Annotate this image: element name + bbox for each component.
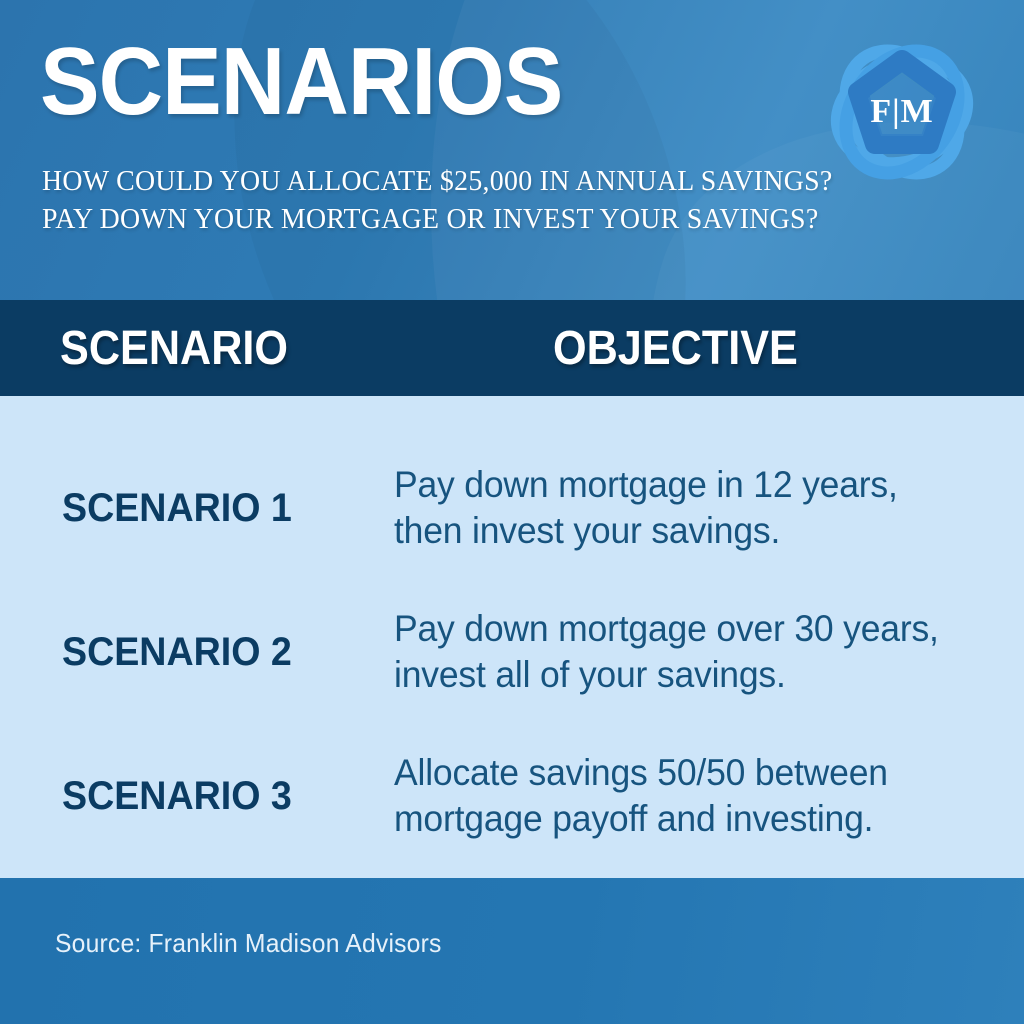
scenario-label: SCENARIO 3 [62, 726, 344, 866]
logo-monogram: F|M [812, 22, 992, 202]
table-header-row: SCENARIO OBJECTIVE [0, 300, 1024, 396]
franklin-madison-ribbon-logo: F|M [812, 22, 992, 202]
table-row: SCENARIO 1 Pay down mortgage in 12 years… [0, 438, 1024, 578]
objective-line-1: Pay down mortgage over 30 years, [394, 606, 951, 652]
source-attribution: Source: Franklin Madison Advisors [55, 928, 442, 959]
column-header-scenario: SCENARIO [60, 300, 288, 396]
table-body: SCENARIO 1 Pay down mortgage in 12 years… [0, 396, 1024, 878]
table-row: SCENARIO 2 Pay down mortgage over 30 yea… [0, 582, 1024, 722]
footer-banner: Source: Franklin Madison Advisors [0, 878, 1024, 1024]
column-header-objective: OBJECTIVE [553, 300, 798, 396]
objective-text: Pay down mortgage in 12 years, then inve… [394, 438, 951, 578]
objective-text: Allocate savings 50/50 between mortgage … [394, 726, 951, 866]
objective-line-1: Allocate savings 50/50 between [394, 750, 951, 796]
page-subtitle: HOW COULD YOU ALLOCATE $25,000 IN ANNUAL… [42, 162, 839, 238]
table-row: SCENARIO 3 Allocate savings 50/50 betwee… [0, 726, 1024, 866]
header-banner: SCENARIOS HOW COULD YOU ALLOCATE $25,000… [0, 0, 1024, 300]
objective-line-1: Pay down mortgage in 12 years, [394, 462, 951, 508]
scenarios-infographic: SCENARIOS HOW COULD YOU ALLOCATE $25,000… [0, 0, 1024, 1024]
scenario-label: SCENARIO 1 [62, 438, 344, 578]
objective-text: Pay down mortgage over 30 years, invest … [394, 582, 951, 722]
objective-line-2: mortgage payoff and investing. [394, 796, 951, 842]
page-title: SCENARIOS [40, 34, 562, 130]
objective-line-2: invest all of your savings. [394, 652, 951, 698]
objective-line-2: then invest your savings. [394, 508, 951, 554]
scenario-label: SCENARIO 2 [62, 582, 344, 722]
